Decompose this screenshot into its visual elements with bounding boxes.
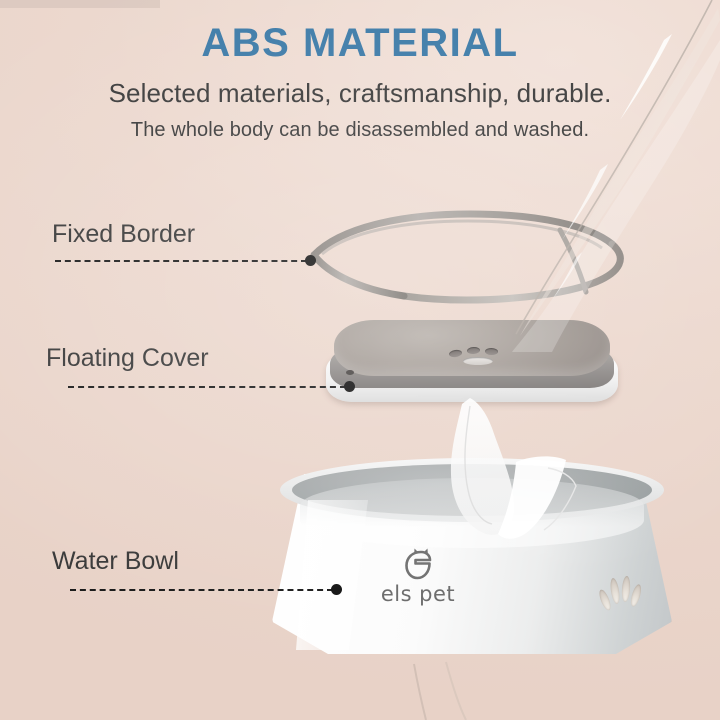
- callout-leader-line: [68, 381, 358, 393]
- drain-hole: [485, 348, 498, 355]
- cover-top-surface: [334, 320, 610, 376]
- leader-dash: [55, 260, 307, 262]
- drain-hole: [449, 349, 463, 358]
- leader-endpoint-dot: [344, 381, 355, 392]
- callout-label: Fixed Border: [52, 222, 317, 247]
- paw-toe: [609, 578, 621, 605]
- callout-fixed-border: Fixed Border: [52, 222, 317, 267]
- callout-label: Floating Cover: [46, 346, 358, 371]
- floating-cover-plate: [322, 318, 622, 402]
- callout-floating-cover: Floating Cover: [46, 346, 358, 393]
- drain-slot: [463, 357, 493, 365]
- callout-leader-line: [55, 255, 317, 267]
- callout-water-bowl: Water Bowl: [52, 549, 345, 596]
- brand-logo: els pet: [358, 548, 478, 606]
- cover-drain-holes: [449, 346, 511, 364]
- paw-toe: [629, 583, 643, 607]
- leader-endpoint-dot: [305, 255, 316, 266]
- infographic-canvas: ABS MATERIAL Selected materials, craftsm…: [0, 0, 720, 720]
- paw-toe: [621, 576, 631, 602]
- leader-dash: [70, 589, 333, 591]
- callout-leader-line: [70, 584, 345, 596]
- drain-hole: [467, 347, 480, 355]
- callout-label: Water Bowl: [52, 549, 345, 574]
- brand-name: els pet: [358, 582, 478, 606]
- paw-print-cutout-icon: [599, 572, 641, 616]
- leader-endpoint-dot: [331, 584, 342, 595]
- cat-head-e-logo-icon: [403, 548, 433, 580]
- leader-dash: [68, 386, 346, 388]
